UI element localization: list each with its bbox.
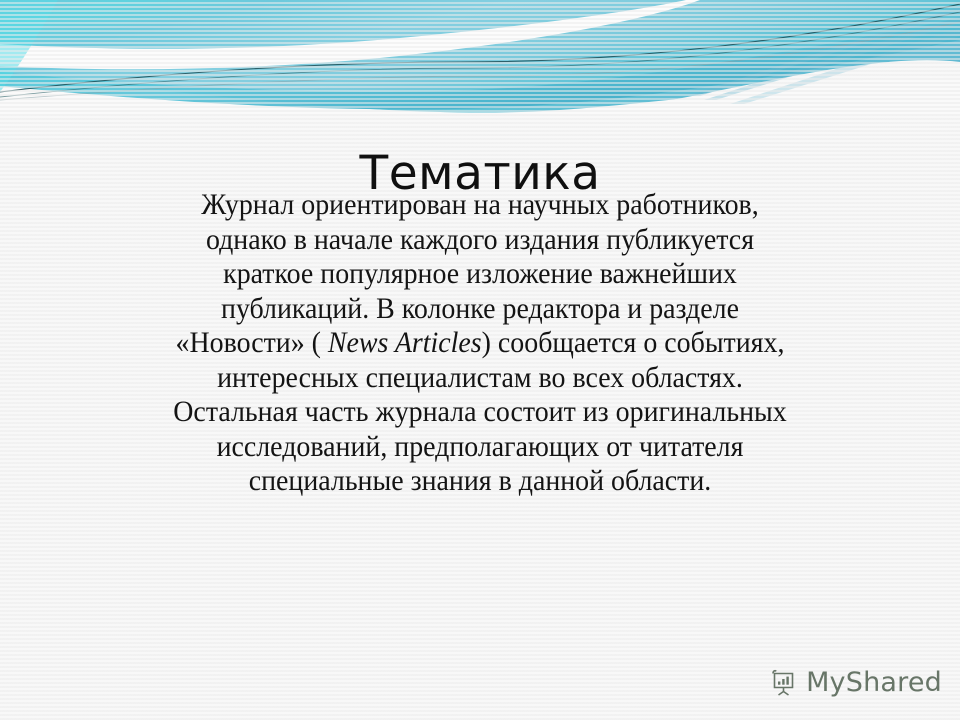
- body-text-block: Журнал ориентирован на научных работнико…: [78, 188, 882, 499]
- body-line-suffix: ) сообщается о событиях,: [482, 326, 785, 359]
- body-line: публикаций. В колонке редактора и раздел…: [106, 292, 854, 327]
- body-line: интересных специалистам во всех областях…: [106, 361, 854, 396]
- body-line: исследований, предполагающих от читателя: [106, 430, 854, 465]
- body-line: Журнал ориентирован на научных работнико…: [106, 188, 854, 223]
- body-line: Остальная часть журнала состоит из ориги…: [106, 395, 854, 430]
- journal-section-name: News Articles: [328, 326, 482, 359]
- body-line-with-emphasis: «Новости» ( News Articles) сообщается о …: [106, 326, 854, 361]
- watermark-label: MyShared: [806, 667, 942, 698]
- body-line-prefix: «Новости» (: [176, 326, 328, 359]
- body-line: краткое популярное изложение важнейших: [106, 257, 854, 292]
- watermark: MyShared: [769, 667, 942, 698]
- body-line: однако в начале каждого издания публикуе…: [106, 223, 854, 258]
- presentation-slide: Тематика Журнал ориентирован на научных …: [0, 0, 960, 720]
- body-line: специальные знания в данной области.: [106, 464, 854, 499]
- header-wave-graphic: [0, 0, 960, 115]
- presentation-board-icon: [769, 668, 799, 698]
